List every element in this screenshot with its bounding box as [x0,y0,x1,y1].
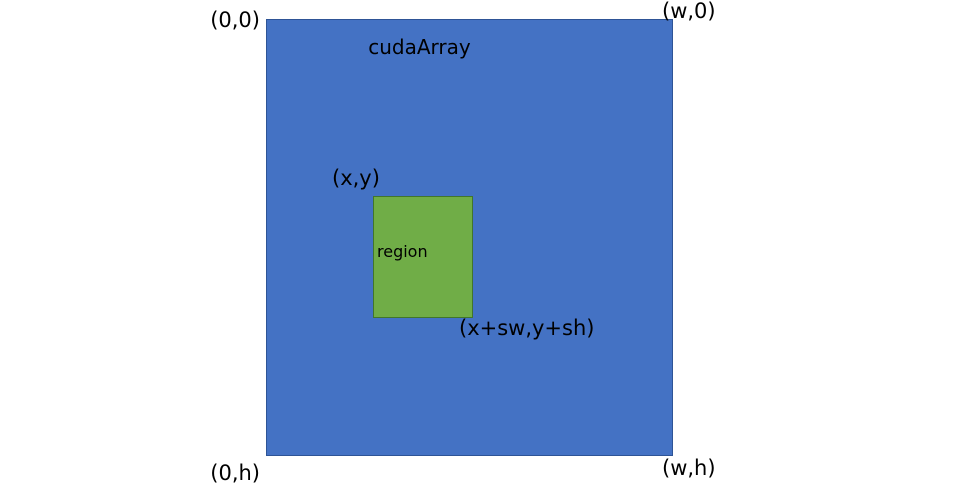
region-label: region [377,244,428,260]
corner-label-bottom-left: (0,h) [210,463,260,484]
region-origin-label: (x,y) [332,168,380,189]
corner-label-top-left: (0,0) [210,10,260,31]
corner-label-bottom-right: (w,h) [662,458,716,479]
cuda-array-label: cudaArray [266,37,573,57]
region-extent-label: (x+sw,y+sh) [459,318,594,339]
diagram-canvas: cudaArray (0,0) (w,0) (0,h) (w,h) region… [0,0,968,493]
corner-label-top-right: (w,0) [662,1,716,22]
